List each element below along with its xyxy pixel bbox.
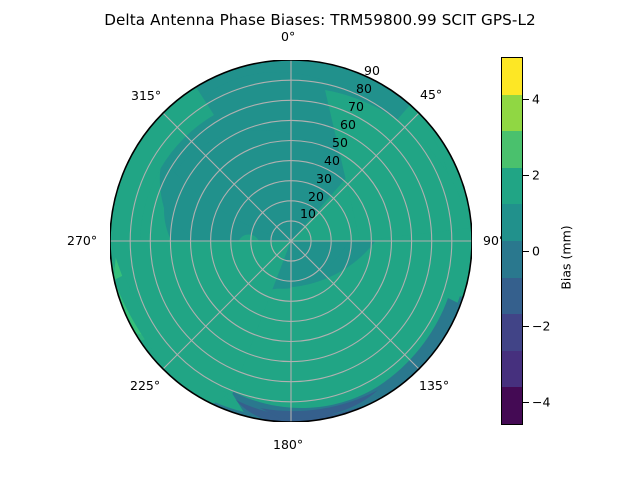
angular-gridlines (110, 60, 472, 422)
colorbar-tick-mark-0 (523, 99, 529, 100)
radial-label-50: 50 (332, 135, 348, 150)
radial-label-20: 20 (308, 189, 324, 204)
azimuth-label-0: 0° (281, 29, 295, 44)
colorbar-band-3 (502, 168, 522, 205)
azimuth-label-225: 225° (130, 378, 160, 393)
figure-canvas: Delta Antenna Phase Biases: TRM59800.99 … (0, 0, 640, 480)
radial-label-80: 80 (356, 81, 372, 96)
figure-title: Delta Antenna Phase Biases: TRM59800.99 … (0, 11, 640, 29)
colorbar-tick-label-3: −2 (532, 319, 550, 334)
colorbar-axis-label: Bias (mm) (552, 197, 580, 317)
colorbar-band-9 (502, 387, 522, 424)
colorbar-tick-label-2: 0 (532, 243, 540, 258)
colorbar (501, 57, 523, 425)
colorbar-tick-label-0: 4 (532, 91, 540, 106)
azimuth-label-180: 180° (273, 437, 303, 452)
colorbar-tick-mark-4 (523, 402, 529, 403)
radial-label-40: 40 (324, 153, 340, 168)
colorbar-band-1 (502, 95, 522, 132)
colorbar-band-7 (502, 314, 522, 351)
radial-label-30: 30 (316, 171, 332, 186)
colorbar-tick-mark-1 (523, 175, 529, 176)
polar-axes (110, 60, 472, 422)
radial-label-10: 10 (300, 206, 316, 221)
radial-label-70: 70 (348, 99, 364, 114)
colorbar-band-4 (502, 204, 522, 241)
colorbar-tick-mark-3 (523, 326, 529, 327)
radial-label-60: 60 (340, 117, 356, 132)
azimuth-label-45: 45° (420, 87, 442, 102)
colorbar-band-2 (502, 131, 522, 168)
colorbar-band-8 (502, 351, 522, 388)
colorbar-tick-mark-2 (523, 251, 529, 252)
colorbar-tick-label-4: −4 (532, 395, 550, 410)
azimuth-label-270: 270° (67, 233, 97, 248)
radial-label-90: 90 (364, 63, 380, 78)
polar-plot-svg (110, 60, 472, 422)
colorbar-band-0 (502, 58, 522, 95)
azimuth-label-315: 315° (131, 88, 161, 103)
colorbar-band-5 (502, 241, 522, 278)
colorbar-tick-label-1: 2 (532, 167, 540, 182)
colorbar-band-6 (502, 278, 522, 315)
azimuth-label-135: 135° (419, 378, 449, 393)
colorbar-label-text: Bias (mm) (559, 225, 574, 289)
